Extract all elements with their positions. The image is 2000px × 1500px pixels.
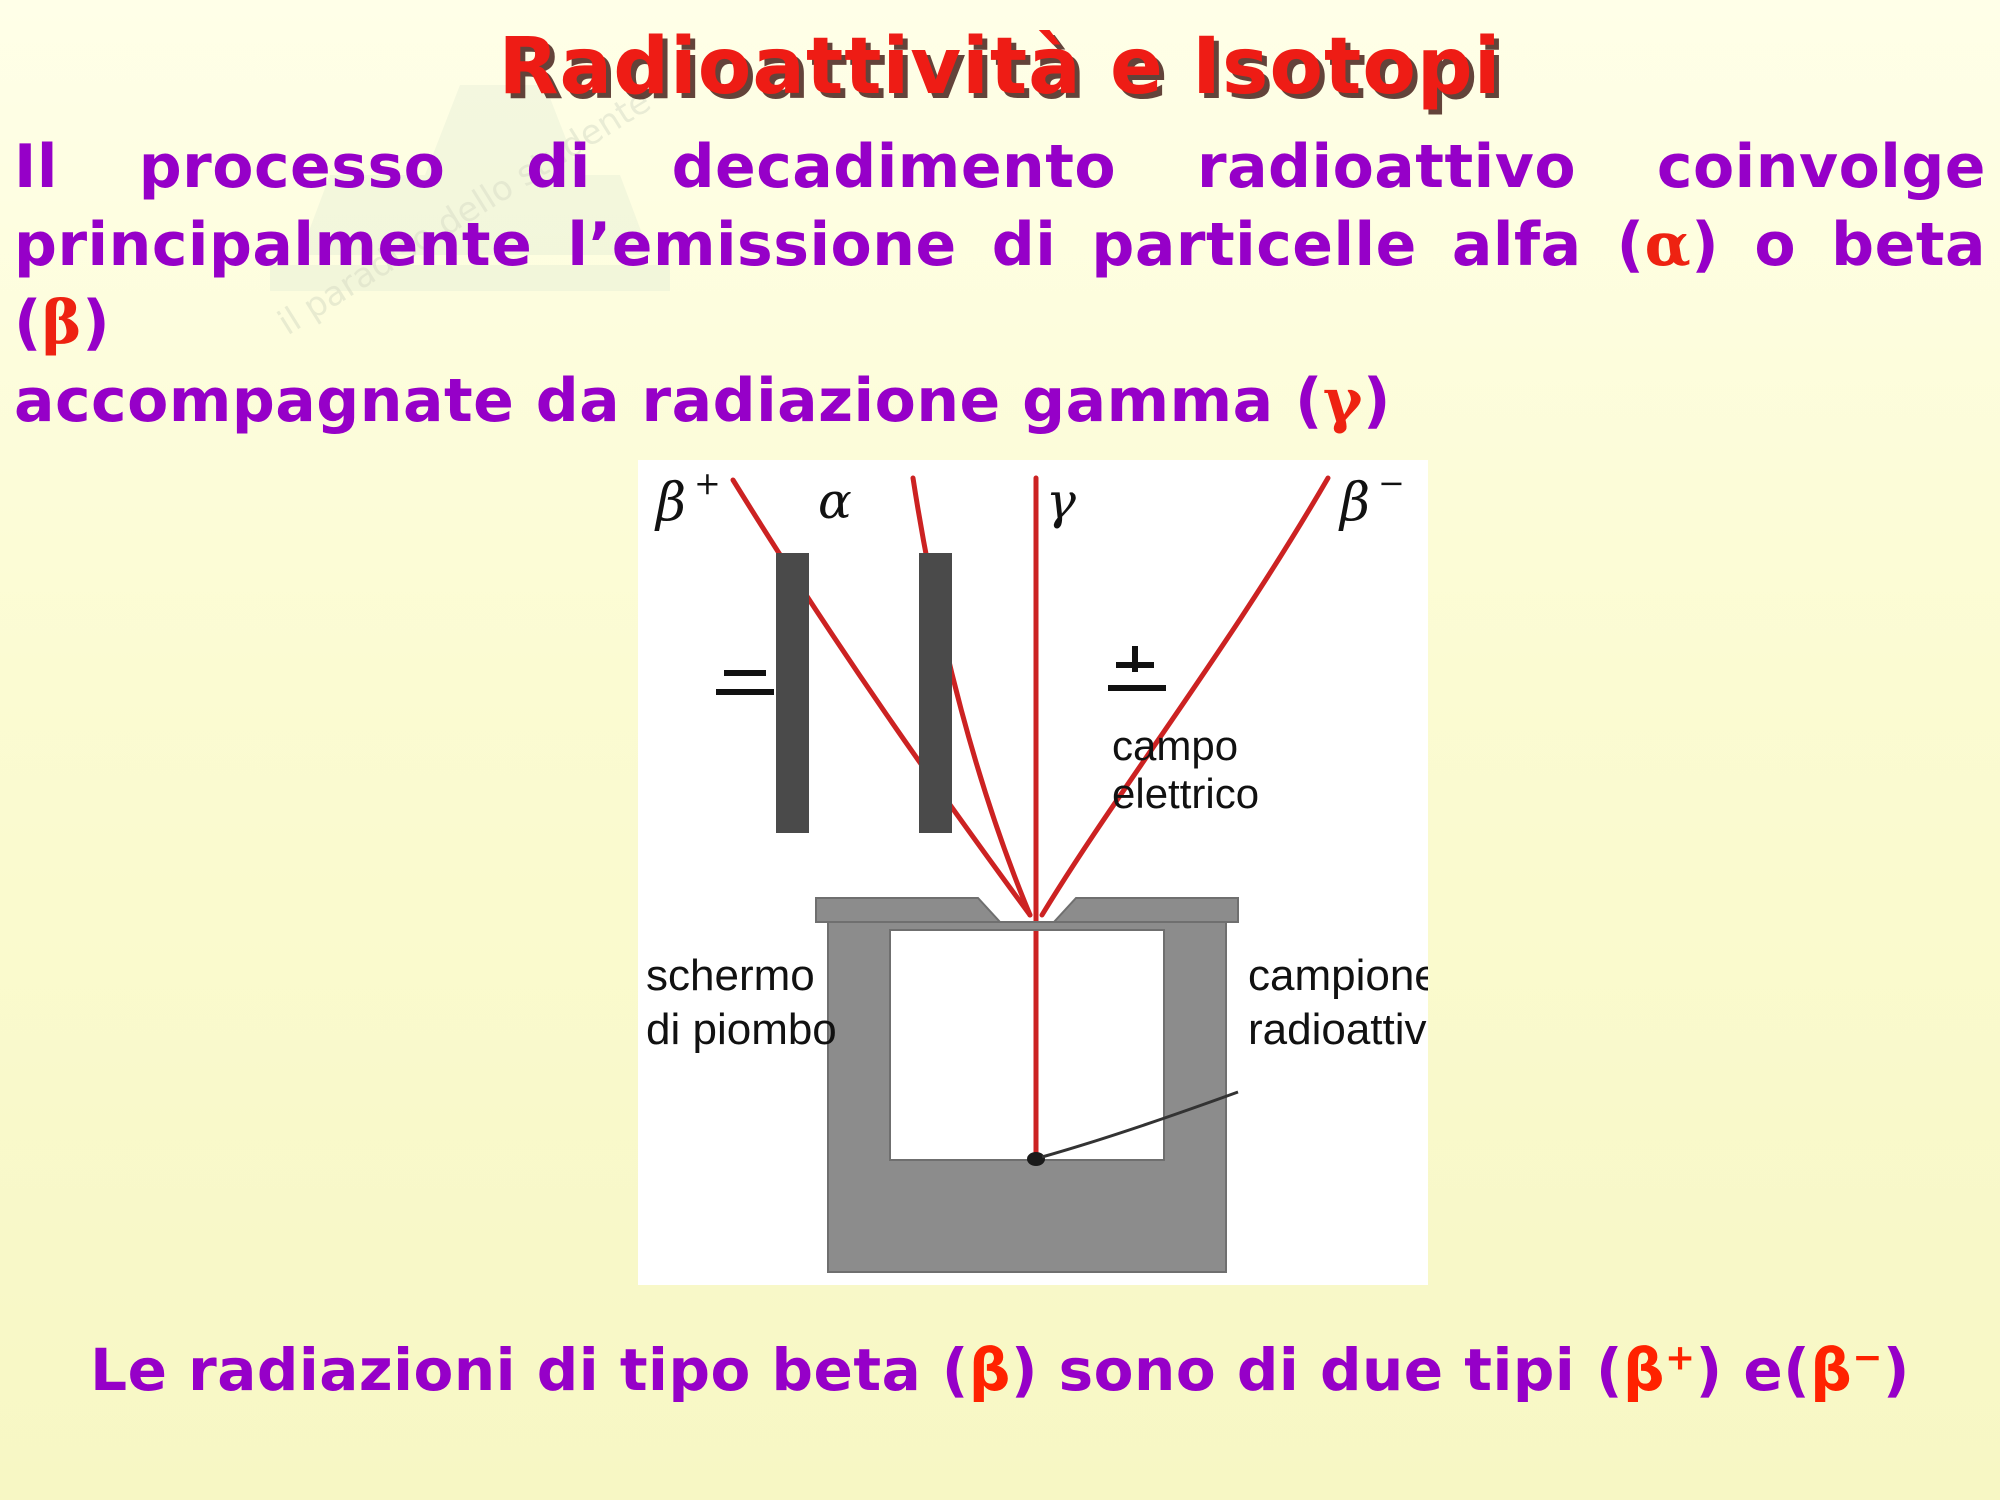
body-line-3-text-a: accompagnate da radiazione gamma ( [14,366,1323,436]
sample-label-line1: campione [1248,951,1428,1000]
body-line-2-text-c: ) [82,288,110,358]
body-line-3-text-b: ) [1363,366,1391,436]
shield-flange-right [1054,898,1238,922]
radiation-deflection-figure: β + α γ β − campo elettrico [638,460,1428,1285]
body-line-2-text-a: principalmente l’emissione di particelle… [14,210,1645,280]
gamma-symbol: γ [1323,366,1363,436]
caption-part-1: Le radiazioni di tipo beta ( [90,1336,969,1404]
caption-beta-3: β [1810,1336,1852,1404]
alpha-symbol: α [1645,210,1692,280]
label-beta-minus-superscript: − [1378,464,1405,502]
caption-beta-2-superscript: + [1665,1338,1696,1379]
bottom-caption: Le radiazioni di tipo beta (β) sono di d… [0,1336,2000,1404]
caption-part-4: ) [1883,1336,1910,1404]
label-beta-plus: β [654,473,686,533]
caption-part-2: ) sono di due tipi ( [1011,1336,1623,1404]
negative-plate [776,553,809,833]
body-line-1: Il processo di decadimento radioattivo c… [14,128,1986,206]
figure-svg: β + α γ β − campo elettrico [638,460,1428,1285]
caption-beta-1: β [969,1336,1011,1404]
field-label-line1: campo [1112,722,1238,769]
body-paragraph: Il processo di decadimento radioattivo c… [14,128,1986,440]
label-gamma: γ [1046,472,1076,530]
positive-plate [919,553,952,833]
label-beta-minus: β [1338,473,1370,533]
shield-flange-left [816,898,1000,922]
radioactive-sample-dot [1027,1152,1045,1166]
shield-label-line2: di piombo [646,1005,837,1054]
caption-beta-2: β [1623,1336,1665,1404]
slide-canvas: il paradiso dello studente Radioattività… [0,0,2000,1500]
sample-label-line2: radioattivo [1248,1005,1428,1054]
body-line-1-text: Il processo di decadimento radioattivo c… [14,132,1986,202]
body-line-2: principalmente l’emissione di particelle… [14,206,1986,362]
field-label-line2: elettrico [1112,770,1259,817]
electric-field-label: campo elettrico [1112,722,1259,817]
beta-symbol: β [42,288,82,358]
shield-label-line1: schermo [646,951,815,1000]
label-beta-plus-superscript: + [694,464,721,502]
label-alpha: α [818,472,852,530]
page-title: Radioattività e Isotopi [0,22,2000,112]
body-line-3: accompagnate da radiazione gamma (γ) [14,362,1986,440]
caption-beta-3-superscript: − [1852,1338,1883,1379]
caption-part-3: ) e( [1696,1336,1811,1404]
